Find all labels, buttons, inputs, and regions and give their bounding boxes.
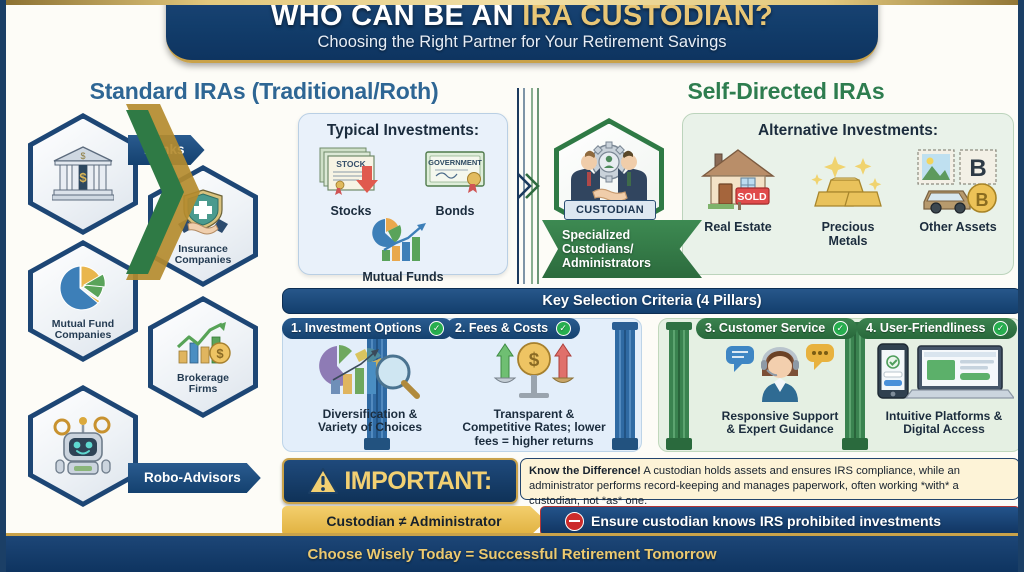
important-badge: IMPORTANT: <box>282 458 518 504</box>
pie-bar-growth-icon <box>360 216 446 264</box>
svg-text:$: $ <box>529 350 540 371</box>
entity-label-brokerage: BrokerageFirms <box>173 373 233 395</box>
robot-icon <box>50 414 116 480</box>
stock-certificate-icon: STOCK <box>314 142 388 198</box>
pillar-title-3: Customer Service <box>719 321 825 335</box>
typical-item-bonds[interactable]: GOVERNMENT Bonds <box>409 142 501 218</box>
pillar-desc-4: Intuitive Platforms &Digital Access <box>864 410 1024 437</box>
pillar-number-3: 3. <box>705 321 715 335</box>
pillar-caption-3[interactable]: 3. Customer Service ✓ <box>696 318 857 339</box>
specialized-custodians-text: SpecializedCustodians/Administrators <box>562 228 651 270</box>
svg-text:SOLD: SOLD <box>737 191 767 203</box>
entity-brokerage-firms[interactable]: $ BrokerageFirms <box>148 296 258 418</box>
house-sold-icon: SOLD <box>695 146 781 214</box>
pillar-content-2: $ Transparent &Competitive Rates; lowerf… <box>454 340 614 448</box>
stamp-car-bitcoin-icon: B B <box>912 146 1004 214</box>
pillar-title-4: User-Friendliness <box>880 321 986 335</box>
hexagon-body: Mutual FundCompanies <box>33 246 133 357</box>
svg-text:B: B <box>976 190 989 210</box>
hexagon-frame <box>28 385 138 507</box>
notes-row: Custodian ≠ Administrator Ensure custodi… <box>282 506 1020 536</box>
check-icon: ✓ <box>429 321 444 336</box>
pillar-title-1: Investment Options <box>305 321 422 335</box>
section-heading-self-directed-iras: Self-Directed IRAs <box>616 78 956 105</box>
pillar-content-4: Intuitive Platforms &Digital Access <box>864 340 1024 437</box>
check-icon: ✓ <box>833 321 848 336</box>
pillar-number-4: 4. <box>866 321 876 335</box>
important-body-text: Know the Difference! A custodian holds a… <box>520 458 1020 500</box>
hexagon-frame: Mutual FundCompanies <box>28 240 138 362</box>
entity-banks[interactable]: $ $ Banks <box>28 113 138 235</box>
pillar-content-1: Diversification &Variety of Choices <box>290 340 450 435</box>
pillar-content-3: Responsive Support& Expert Guidance <box>700 340 860 437</box>
header-banner: WHO CAN BE AN IRA CUSTODIAN? Choosing th… <box>166 0 878 63</box>
typical-investments-panel: Typical Investments: STOCK Stocks <box>298 113 508 275</box>
svg-text:B: B <box>969 155 986 182</box>
hexagon-frame: $ $ <box>28 113 138 235</box>
alternative-investments-title: Alternative Investments: <box>683 122 1013 140</box>
pillar-number-2: 2. <box>455 321 465 335</box>
svg-text:$: $ <box>79 170 87 185</box>
phone-laptop-icon <box>874 340 1014 402</box>
pillar-title-2: Fees & Costs <box>469 321 548 335</box>
pillar-desc-1: Diversification &Variety of Choices <box>290 408 450 435</box>
typical-item-label-mutual-funds: Mutual Funds <box>299 270 507 284</box>
hexagon-body <box>33 391 133 502</box>
note-prohibited-investments[interactable]: Ensure custodian knows IRS prohibited in… <box>540 506 1020 536</box>
entity-label-robo-advisors: Robo-Advisors <box>128 463 261 493</box>
pie-chart-icon <box>54 263 112 317</box>
custodian-chip-label: CUSTODIAN <box>564 200 656 220</box>
pillar-caption-2[interactable]: 2. Fees & Costs ✓ <box>446 318 580 339</box>
alt-item-label-real-estate: Real Estate <box>688 221 788 235</box>
svg-text:$: $ <box>216 346 224 361</box>
check-icon: ✓ <box>993 321 1008 336</box>
footer-text: Choose Wisely Today = Successful Retirem… <box>308 546 717 563</box>
infographic-canvas: WHO CAN BE AN IRA CUSTODIAN? Choosing th… <box>0 0 1024 572</box>
self-directed-chevron-graphic <box>126 104 206 280</box>
entity-mutual-fund-companies[interactable]: Mutual FundCompanies <box>28 240 138 362</box>
bank-icon: $ $ <box>52 144 114 206</box>
alt-item-precious-metals[interactable]: PreciousMetals <box>798 146 898 248</box>
typical-investments-title: Typical Investments: <box>299 122 507 140</box>
section-heading-standard-iras: Standard IRAs (Traditional/Roth) <box>54 78 474 105</box>
prohibited-icon <box>565 512 584 531</box>
typical-investments-row: STOCK Stocks GOVERNMENT <box>299 142 507 218</box>
entity-label-mutual-fund: Mutual FundCompanies <box>48 319 118 341</box>
page-subtitle: Choosing the Right Partner for Your Reti… <box>166 33 878 52</box>
headset-agent-icon <box>720 340 840 402</box>
pie-magnifier-icon <box>311 340 429 400</box>
warning-triangle-icon <box>308 467 338 495</box>
footer-banner: Choose Wisely Today = Successful Retirem… <box>0 533 1024 572</box>
alternative-investments-row: SOLD Real Estate <box>683 146 1013 248</box>
government-bond-icon: GOVERNMENT <box>418 142 492 198</box>
growth-chart-coin-icon: $ <box>174 321 232 371</box>
hexagon-frame: $ BrokerageFirms <box>148 296 258 418</box>
hexagon-body: $ $ <box>33 119 133 230</box>
alt-item-label-other-assets: Other Assets <box>908 221 1008 235</box>
section-divider-chevrons <box>512 88 546 284</box>
svg-text:GOVERNMENT: GOVERNMENT <box>428 158 482 167</box>
pillar-desc-3: Responsive Support& Expert Guidance <box>700 410 860 437</box>
note-custodian-vs-administrator[interactable]: Custodian ≠ Administrator <box>282 506 546 536</box>
gold-bars-icon <box>805 146 891 214</box>
pillar-caption-1[interactable]: 1. Investment Options ✓ <box>282 318 453 339</box>
alt-item-label-precious-metals: PreciousMetals <box>798 221 898 248</box>
check-icon: ✓ <box>556 321 571 336</box>
alt-item-real-estate[interactable]: SOLD Real Estate <box>688 146 788 235</box>
criteria-heading: Key Selection Criteria (4 Pillars) <box>282 288 1022 314</box>
specialized-custodian-badge[interactable]: CUSTODIAN SpecializedCustodians/Administ… <box>542 112 702 272</box>
specialized-custodians-label: SpecializedCustodians/Administrators <box>542 220 702 278</box>
alt-item-other-assets[interactable]: B B Other Assets <box>908 146 1008 235</box>
hexagon-body: $ BrokerageFirms <box>153 302 253 413</box>
pillar-number-1: 1. <box>291 321 301 335</box>
important-lead: Know the Difference! <box>529 465 641 477</box>
typical-item-stocks[interactable]: STOCK Stocks <box>305 142 397 218</box>
alternative-investments-panel: Alternative Investments: SOLD Real Estat… <box>682 113 1014 275</box>
svg-text:$: $ <box>80 151 85 161</box>
pillar-caption-4[interactable]: 4. User-Friendliness ✓ <box>857 318 1017 339</box>
top-gold-rule <box>6 0 1024 5</box>
pillar-desc-2: Transparent &Competitive Rates; lowerfee… <box>454 408 614 448</box>
note-prohibited-text: Ensure custodian knows IRS prohibited in… <box>591 513 941 529</box>
pillar-column-3 <box>666 322 692 450</box>
pillar-column-2 <box>612 322 638 450</box>
entity-robo-advisors[interactable]: Robo-Advisors <box>28 385 138 507</box>
scale-coin-icon: $ <box>479 340 589 400</box>
important-callout-row: IMPORTANT: Know the Difference! A custod… <box>282 458 1020 500</box>
typical-item-mutual-funds[interactable]: Mutual Funds <box>299 216 507 284</box>
important-badge-label: IMPORTANT: <box>344 467 491 496</box>
